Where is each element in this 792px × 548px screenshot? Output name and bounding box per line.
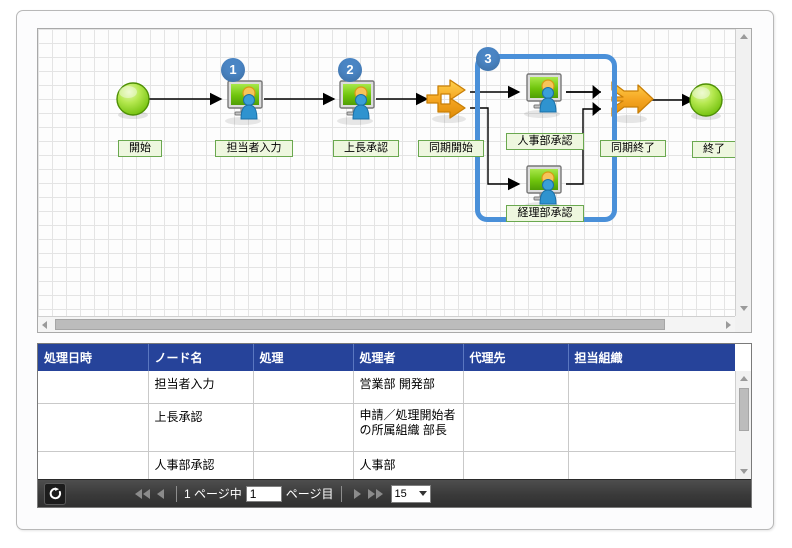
grid-body: 担当者入力 営業部 開発部 上長承認 申請／処理開始者 の所属組織 部長 [38,371,735,479]
node-label-boss: 上長承認 [333,140,399,157]
grid-scroll-thumb[interactable] [739,388,749,431]
node-label-end: 終了 [692,141,735,158]
scroll-right-arrow[interactable] [726,321,731,329]
scrollbar-corner [735,316,751,332]
grid-scroll-down-arrow[interactable] [740,469,748,474]
cell-action [253,371,353,403]
pagination-toolbar: 1 ページ中 ページ目 15 [38,479,751,507]
first-page-icon-2 [143,489,150,499]
cell-delegate [463,403,568,451]
last-page-button[interactable] [367,484,385,504]
node-label-start: 開始 [118,140,162,157]
table-header-row: 処理日時 ノード名 処理 処理者 代理先 担当組織 [38,344,735,371]
history-grid: 処理日時 ノード名 処理 処理者 代理先 担当組織 担当者入力 [37,343,752,508]
page-suffix-label: ページ目 [286,485,334,502]
workflow-canvas[interactable]: 開始 担当者入力 上長承認 同期開始 人事部承認 経理部承認 同期終了 終了 1… [38,29,735,316]
scroll-down-arrow[interactable] [740,306,748,311]
cell-datetime [38,371,148,403]
cell-nodename: 人事部承認 [148,451,253,479]
table-row[interactable]: 担当者入力 営業部 開発部 [38,371,735,403]
prev-page-button[interactable] [151,484,169,504]
cell-delegate [463,371,568,403]
scroll-up-arrow[interactable] [740,34,748,39]
node-label-split: 同期開始 [418,140,484,157]
grid-header: 処理日時 ノード名 処理 処理者 代理先 担当組織 [38,344,735,371]
table-row[interactable]: 上長承認 申請／処理開始者 の所属組織 部長 [38,403,735,451]
node-label-acct: 経理部承認 [506,205,584,222]
table-row[interactable]: 人事部承認 人事部 [38,451,735,479]
workflow-diagram-panel: 開始 担当者入力 上長承認 同期開始 人事部承認 経理部承認 同期終了 終了 1… [37,28,752,333]
refresh-icon [49,487,62,500]
horizontal-scroll-thumb[interactable] [55,319,665,330]
first-page-button[interactable] [133,484,151,504]
column-header-nodename[interactable]: ノード名 [148,344,253,371]
column-header-handler[interactable]: 処理者 [353,344,463,371]
cell-delegate [463,451,568,479]
total-pages-label: 1 ページ中 [184,485,242,502]
step-badge-1: 1 [221,58,245,82]
cell-datetime [38,403,148,451]
cell-org [568,451,735,479]
chevron-down-icon [419,491,427,496]
page-size-value: 15 [395,488,407,500]
cell-action [253,403,353,451]
step-badge-2: 2 [338,58,362,82]
refresh-button[interactable] [44,483,66,505]
cell-org [568,371,735,403]
page-size-select[interactable]: 15 [391,485,431,503]
diagram-vertical-scrollbar[interactable] [735,29,751,316]
first-page-icon [135,489,142,499]
step-badge-3: 3 [476,47,500,71]
grid-scroll-up-arrow[interactable] [740,376,748,381]
pager-divider-1 [176,486,177,502]
last-page-icon-2 [376,489,383,499]
column-header-action[interactable]: 処理 [253,344,353,371]
cell-datetime [38,451,148,479]
diagram-horizontal-scrollbar[interactable] [38,316,735,332]
column-header-org[interactable]: 担当組織 [568,344,735,371]
prev-page-icon [157,489,164,499]
pager-divider-2 [341,486,342,502]
cell-handler: 人事部 [353,451,463,479]
cell-org [568,403,735,451]
main-panel: 開始 担当者入力 上長承認 同期開始 人事部承認 経理部承認 同期終了 終了 1… [16,10,774,530]
last-page-icon [368,489,375,499]
column-header-datetime[interactable]: 処理日時 [38,344,148,371]
node-label-join: 同期終了 [600,140,666,157]
cell-nodename: 担当者入力 [148,371,253,403]
scroll-left-arrow[interactable] [42,321,47,329]
cell-handler: 営業部 開発部 [353,371,463,403]
grid-vertical-scrollbar[interactable] [735,371,751,479]
next-page-icon [354,489,361,499]
cell-action [253,451,353,479]
cell-handler: 申請／処理開始者 の所属組織 部長 [353,403,463,451]
page-number-input[interactable] [246,486,282,502]
column-header-delegate[interactable]: 代理先 [463,344,568,371]
node-label-input: 担当者入力 [215,140,293,157]
next-page-button[interactable] [349,484,367,504]
cell-nodename: 上長承認 [148,403,253,451]
node-label-hr: 人事部承認 [506,133,584,150]
